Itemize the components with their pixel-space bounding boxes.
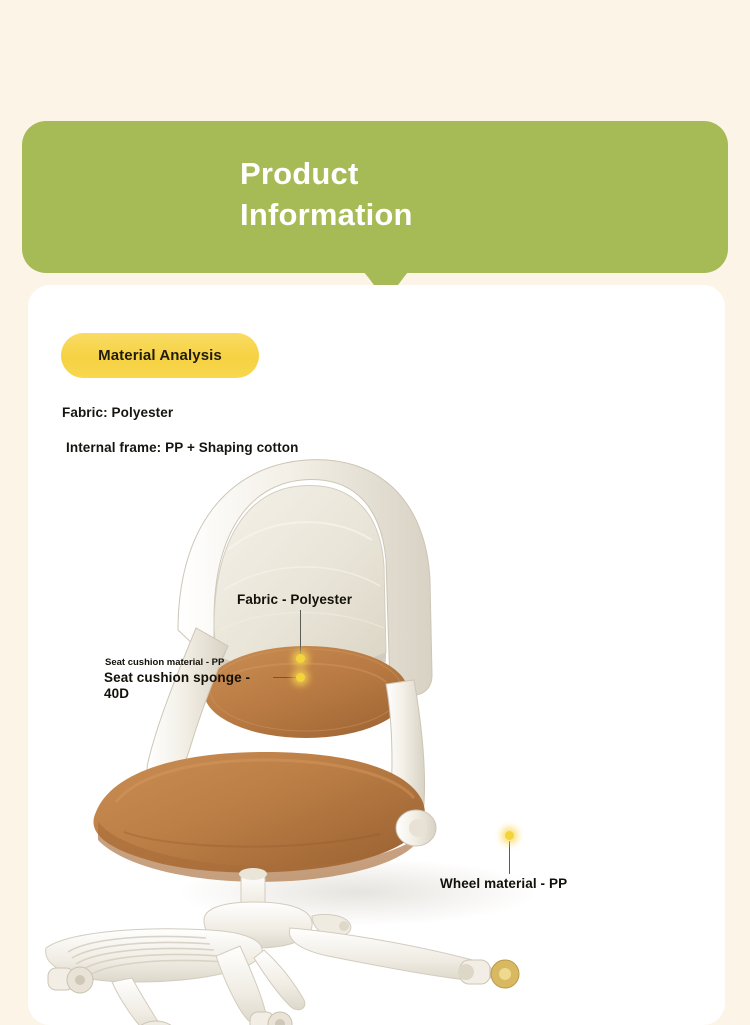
callout-wheel-material: Wheel material - PP bbox=[440, 876, 567, 891]
chair-illustration bbox=[28, 440, 725, 1025]
callout-seat-cushion-sponge: Seat cushion sponge - 40D bbox=[104, 670, 269, 702]
material-analysis-badge-label: Material Analysis bbox=[98, 347, 222, 364]
office-chair-photo bbox=[28, 440, 725, 1025]
hotspot-wheel bbox=[505, 831, 514, 840]
hotspot-seat-cushion bbox=[296, 673, 305, 682]
hotspot-fabric bbox=[296, 654, 305, 663]
callout-seat-cushion-material: Seat cushion material - PP bbox=[105, 657, 224, 668]
product-information-banner: Product Information bbox=[22, 121, 728, 273]
caster-wheel-center bbox=[250, 1012, 292, 1025]
spec-line-fabric: Fabric: Polyester bbox=[62, 405, 173, 420]
caster-wheel-left bbox=[48, 967, 93, 993]
caster-wheel-right bbox=[458, 960, 519, 988]
material-analysis-card: Material Analysis Fabric: Polyester Inte… bbox=[28, 285, 725, 1025]
callout-fabric-polyester: Fabric - Polyester bbox=[237, 592, 352, 607]
material-analysis-badge: Material Analysis bbox=[61, 333, 259, 378]
leader-line-wheel bbox=[509, 841, 510, 874]
page-title: Product Information bbox=[240, 154, 700, 236]
leader-line-fabric bbox=[300, 610, 301, 658]
